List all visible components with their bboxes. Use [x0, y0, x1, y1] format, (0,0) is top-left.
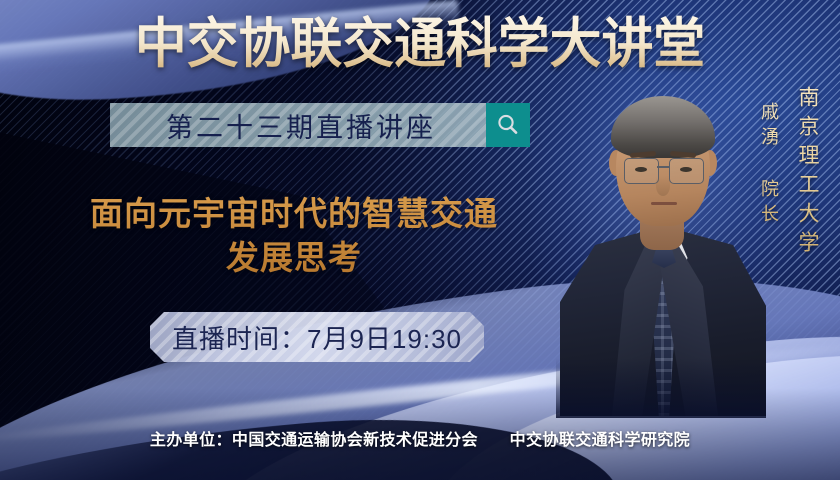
broadcast-time-badge: 直播时间：7月9日19:30	[150, 312, 484, 362]
search-icon	[495, 112, 521, 138]
episode-label: 第二十三期直播讲座	[160, 106, 436, 145]
organizer-secondary: 中交协联交通科学研究院	[510, 432, 690, 449]
broadcast-time-text: 直播时间：7月9日19:30	[172, 319, 462, 356]
portrait-nose	[656, 176, 670, 196]
page-title: 中交协联交通科学大讲堂	[17, 14, 823, 74]
organizer-footer: 主办单位：中国交通运输协会新技术促进分会 中交协联交通科学研究院	[0, 426, 840, 450]
speaker-credits: 戚湧 院长 南京理工大学	[756, 86, 822, 260]
portrait-eyeglass-left	[624, 158, 659, 184]
search-button[interactable]	[486, 103, 530, 147]
speaker-organization: 南京理工大学	[792, 86, 822, 260]
speaker-portrait	[556, 78, 766, 408]
portrait-mouth	[651, 202, 677, 205]
webinar-poster: 中交协联交通科学大讲堂 第二十三期直播讲座 面向元宇宙时代的智慧交通 发展思考 …	[0, 0, 840, 480]
lecture-topic-line2: 发展思考	[34, 236, 554, 280]
portrait-eyeglass-bridge	[657, 166, 669, 168]
portrait-bottom-fade	[556, 358, 766, 418]
portrait-eyeglass-right	[669, 158, 704, 184]
episode-banner-body: 第二十三期直播讲座	[110, 103, 486, 147]
episode-banner: 第二十三期直播讲座	[110, 103, 530, 147]
organizer-primary: 主办单位：中国交通运输协会新技术促进分会	[150, 432, 478, 449]
lecture-topic-line1: 面向元宇宙时代的智慧交通	[90, 195, 498, 232]
speaker-name-title: 戚湧 院长	[756, 102, 782, 229]
lecture-topic: 面向元宇宙时代的智慧交通 发展思考	[34, 192, 554, 280]
